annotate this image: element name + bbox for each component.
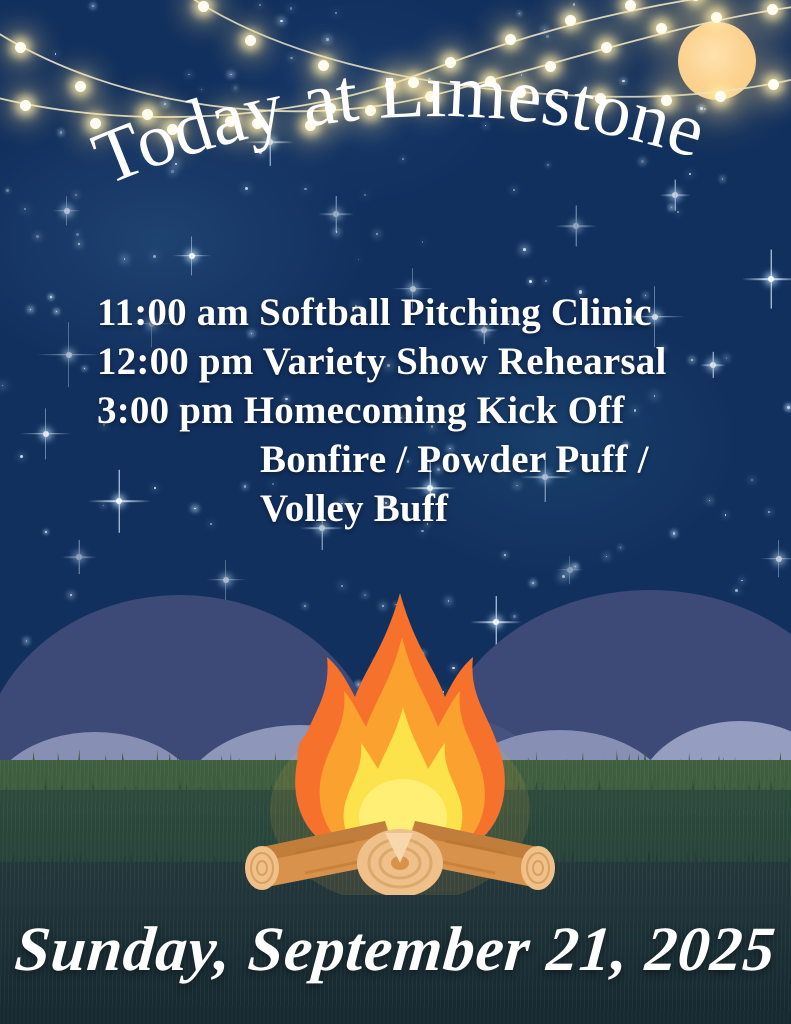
star-dot [36,235,39,238]
title-text: Today at Limestone [82,78,715,201]
light-bulb-icon [545,61,556,72]
light-bulb-icon [505,34,516,45]
event-date: Sunday, September 21, 2025 [0,913,791,986]
light-bulb-icon [15,42,26,53]
event-line: Bonfire / Powder Puff / [0,435,791,484]
light-bulb-icon [445,57,456,68]
light-bulb-icon [245,35,256,46]
light-bulb-icon [198,1,209,12]
poster-canvas: Today at Limestone 11:00 am Softball Pit… [0,0,791,1024]
star-dot [422,241,423,242]
page-title: Today at Limestone [0,78,791,218]
event-line: Volley Buff [0,484,791,533]
light-bulb-icon [625,0,636,11]
star-dot [76,233,79,236]
star-sparkle [172,236,211,275]
star-dot [78,243,79,244]
light-bulb-icon [711,12,722,23]
star-dot [358,259,359,260]
star-dot [376,233,378,235]
star-core [768,276,774,282]
event-line: 12:00 pm Variety Show Rehearsal [0,337,791,386]
star-dot [124,258,125,259]
light-bulb-icon [565,15,576,26]
star-dot [523,248,526,251]
light-bulb-icon [656,23,667,34]
star-core [189,253,195,259]
light-bulb-icon [767,4,778,15]
light-bulb-icon [318,60,329,71]
event-list: 11:00 am Softball Pitching Clinic 12:00 … [0,288,791,533]
light-bulb-icon [601,42,612,53]
event-line: 11:00 am Softball Pitching Clinic [0,288,791,337]
star-core [573,223,579,229]
event-line: 3:00 pm Homecoming Kick Off [0,386,791,435]
bonfire [235,585,565,895]
